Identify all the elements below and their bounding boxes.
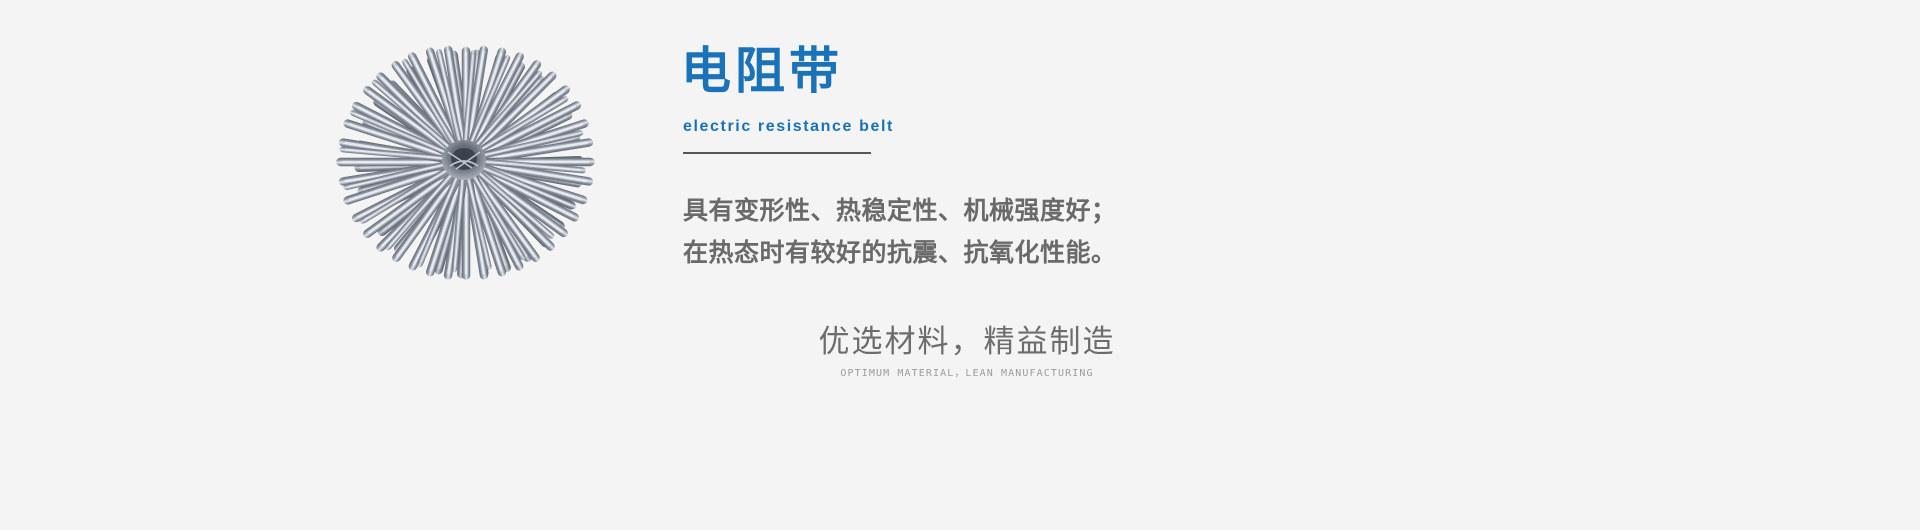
- description-line-2: 在热态时有较好的抗震、抗氧化性能。: [683, 232, 1303, 274]
- product-image: [288, 30, 648, 390]
- banner-content: 电阻带 electric resistance belt 具有变形性、热稳定性、…: [681, 0, 1581, 530]
- page-subtitle-english: electric resistance belt: [683, 118, 894, 136]
- page-title: 电阻带: [681, 46, 843, 96]
- slogan-block: 优选材料，精益制造 OPTIMUM MATERIAL，LEAN MANUFACT…: [777, 322, 1157, 380]
- product-banner: 电阻带 electric resistance belt 具有变形性、热稳定性、…: [0, 0, 1920, 530]
- slogan-chinese: 优选材料，精益制造: [777, 322, 1157, 362]
- slogan-english: OPTIMUM MATERIAL，LEAN MANUFACTURING: [777, 367, 1157, 380]
- description-line-1: 具有变形性、热稳定性、机械强度好；: [683, 190, 1303, 232]
- title-divider: [683, 152, 871, 154]
- product-description: 具有变形性、热稳定性、机械强度好； 在热态时有较好的抗震、抗氧化性能。: [683, 190, 1303, 274]
